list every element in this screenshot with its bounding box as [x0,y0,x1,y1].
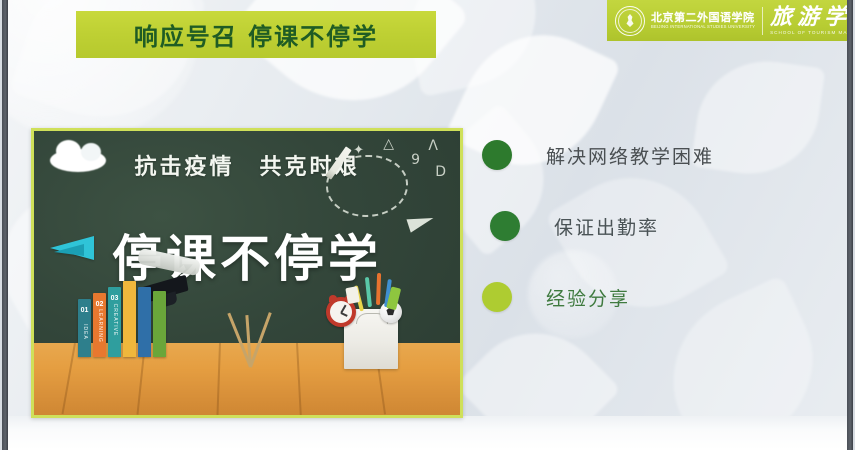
book-item [153,291,166,357]
book-label: LEARNING [97,309,103,343]
presentation-slide: 响应号召 停课不停学 北京第二外国语学院 BEIJING INTERNATION… [0,0,855,450]
book-stack: 01 IDEA 02 LEARNING 03 CREATIVE [78,281,166,357]
book-item: 01 IDEA [78,299,91,357]
desk-plank [62,343,76,414]
bullet-item-1: 解决网络教学困难 [482,140,832,170]
supply-item [345,286,360,304]
logo-divider [762,7,763,35]
seal-emblem-icon [625,14,636,27]
university-name-en: BEIJING INTERNATIONAL STUDIES UNIVERSITY [651,24,755,29]
left-edge-bar [2,0,8,450]
bullet-dot-icon [482,282,512,312]
blackboard-image: 抗击疫情 共克时艰 停课不停学 ✦ △ 9 D Λ 01 IDEA 02 LEA… [31,128,463,418]
university-name-cn: 北京第二外国语学院 [651,12,755,24]
book-number: 02 [93,301,106,308]
desk-plank [296,343,301,415]
school-name-cn: 旅游学院 [770,6,855,28]
bullet-list: 解决网络教学困难 保证出勤率 经验分享 [482,140,832,353]
school-name-en: SCHOOL OF TOURISM MANAGEMENT [770,30,855,36]
book-item: 02 LEARNING [93,293,106,357]
star-icon: ✦ [353,143,364,156]
bullet-label-2: 保证出勤率 [554,213,659,240]
chalk-mark-icon: D [435,165,446,179]
book-item [138,287,151,357]
bottom-band [8,416,847,450]
book-number: 03 [108,295,121,302]
slide-title-banner: 响应号召 停课不停学 [76,11,436,58]
book-label: CREATIVE [112,304,118,337]
compass-icon [222,305,278,367]
bullet-item-2: 保证出勤率 [490,211,832,241]
compass-leg [249,312,271,367]
book-item [123,281,136,357]
book-label: IDEA [82,324,88,340]
chalk-mark-icon: 9 [411,153,420,167]
bullet-label-1: 解决网络教学困难 [546,142,714,169]
desk-plank [216,343,220,415]
chalk-mark-icon: △ [383,137,394,151]
bullet-dot-icon [482,140,512,170]
chalk-mark-icon: Λ [428,139,438,153]
bullet-dot-icon [490,211,520,241]
book-item: 03 CREATIVE [108,287,121,357]
page-title: 响应号召 停课不停学 [134,17,378,52]
right-edge-bar [847,0,853,450]
bullet-label-3: 经验分享 [546,284,630,311]
book-number: 01 [78,307,91,314]
clock-bell [329,295,337,302]
college-logo-bar: 北京第二外国语学院 BEIJING INTERNATIONAL STUDIES … [607,0,847,41]
bullet-item-3: 经验分享 [482,282,832,312]
school-name-block: 旅游学院 SCHOOL OF TOURISM MANAGEMENT [770,6,855,36]
university-name-block: 北京第二外国语学院 BEIJING INTERNATIONAL STUDIES … [651,12,755,30]
university-seal-icon [615,6,645,36]
